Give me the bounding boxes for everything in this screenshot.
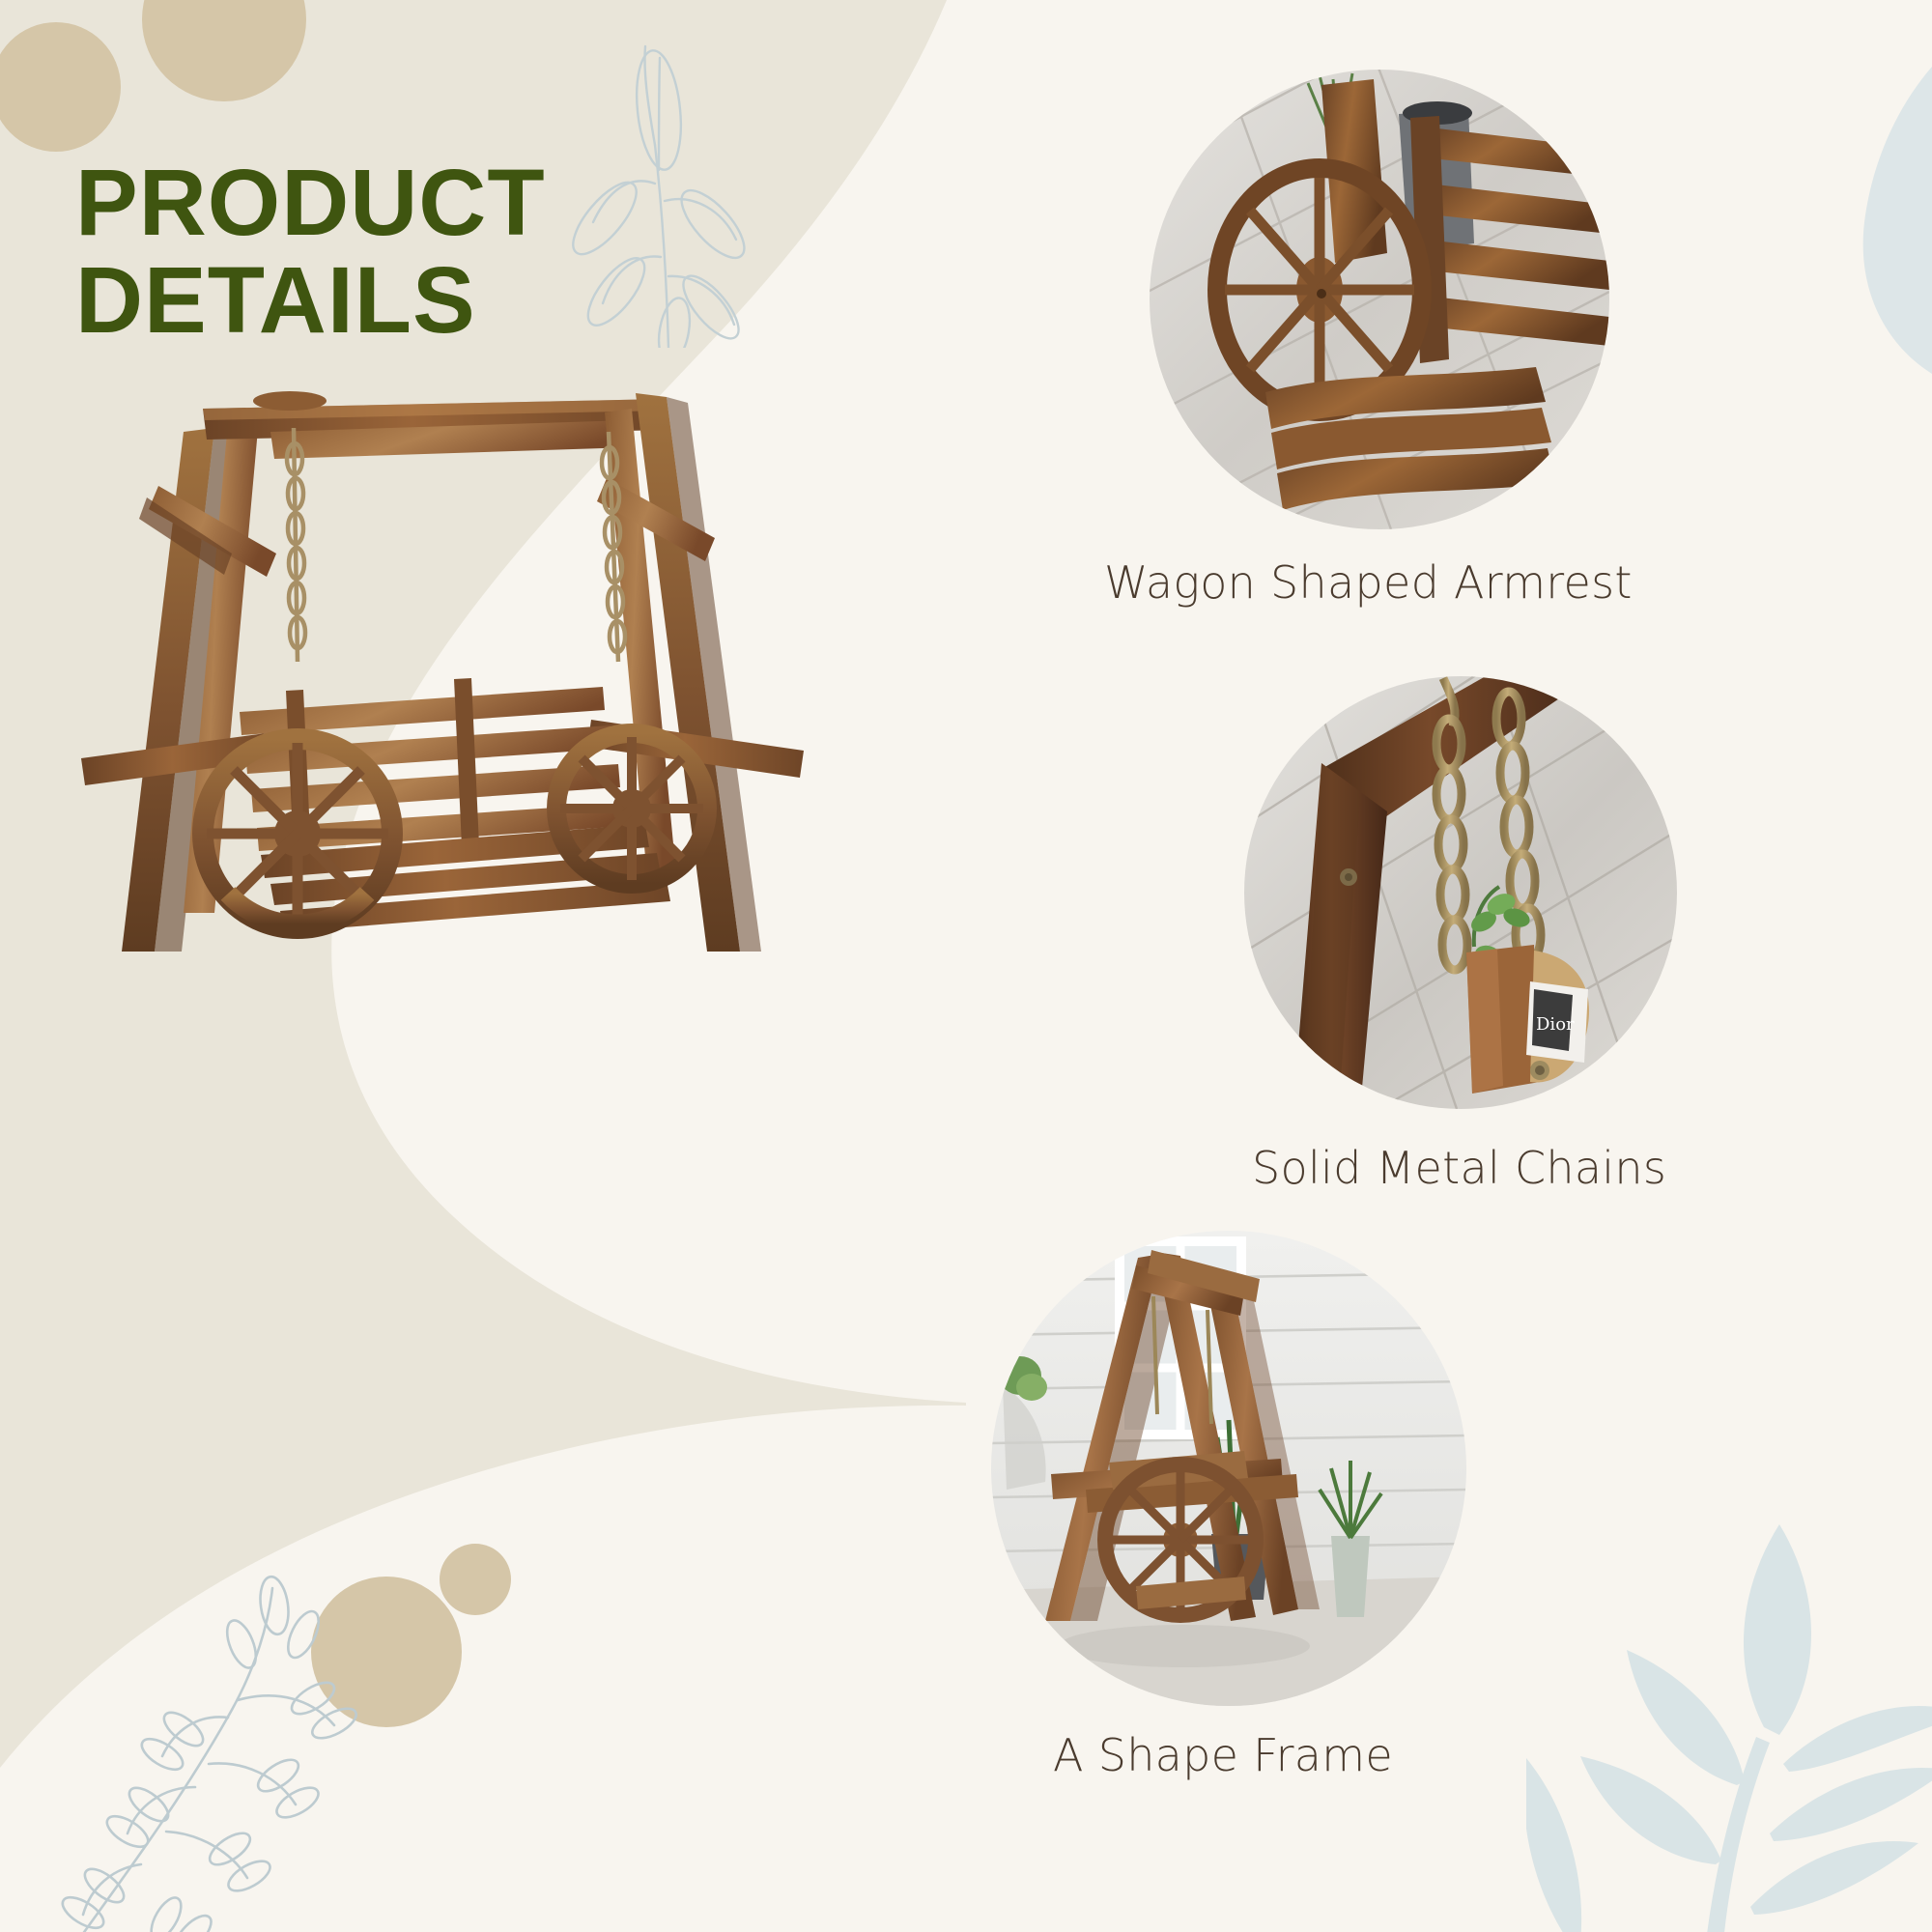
feature-photo-metal-chains: Dior xyxy=(1244,676,1677,1109)
feature-photo-a-shape-frame xyxy=(991,1231,1466,1706)
leaf-sprig-bottom-icon xyxy=(39,1555,406,1932)
page-title: PRODUCT DETAILS xyxy=(75,155,867,350)
feature-caption-wagon-armrest: Wagon Shaped Armrest xyxy=(1104,556,1633,609)
page-title-line-1: PRODUCT xyxy=(75,155,867,252)
leaf-solid-right-icon xyxy=(1526,1478,1932,1932)
armrest-wheel-right xyxy=(556,733,707,884)
feature-inset-wagon-armrest xyxy=(1150,70,1609,529)
feature-caption-metal-chains: Solid Metal Chains xyxy=(1252,1142,1666,1194)
chain-left xyxy=(287,428,305,662)
svg-text:Dior: Dior xyxy=(1536,1014,1575,1035)
feature-inset-a-shape-frame xyxy=(991,1231,1466,1706)
feature-caption-a-shape-frame: A Shape Frame xyxy=(1053,1729,1393,1781)
page-title-line-2: DETAILS xyxy=(75,252,867,350)
leaf-solid-corner-icon xyxy=(1768,39,1932,377)
tan-circle-bottom-small xyxy=(440,1544,511,1615)
beam-knot xyxy=(253,391,327,411)
hero-product-image xyxy=(39,372,821,1087)
feature-photo-wagon-armrest xyxy=(1150,70,1609,529)
feature-inset-metal-chains: Dior xyxy=(1244,676,1677,1109)
contoured-seat-boards xyxy=(1265,367,1555,510)
magazine: Dior xyxy=(1526,981,1588,1063)
poster-canvas: PRODUCT DETAILS xyxy=(0,0,1932,1932)
